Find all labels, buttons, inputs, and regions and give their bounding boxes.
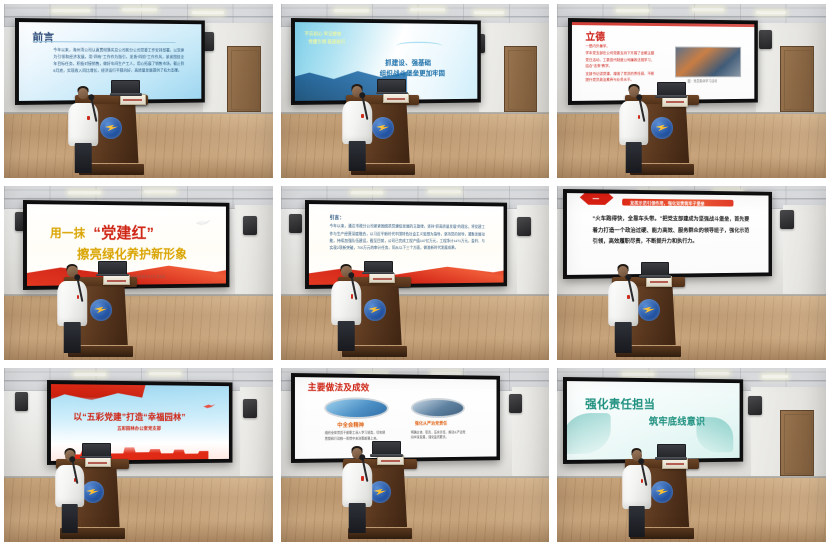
- podium-emblem-icon: [101, 117, 123, 139]
- presenter-3: [619, 86, 649, 171]
- slide-inset-photo: [675, 46, 741, 77]
- slide-9: 强化责任担当 筑牢底线意识: [567, 381, 740, 460]
- wall-speaker-icon: [243, 216, 256, 235]
- slide-title: 主要做法及成效: [308, 381, 370, 394]
- section-body-2: 明确主体、职责，压实责任，推动从严治党向纵深发展，强化监督履责。: [411, 430, 466, 441]
- photo-cell-2[interactable]: 不忘初心 牢记使命 党建引领 砥砺前行 抓建设、强基础 组织战斗堡垒更加牢固: [277, 0, 554, 182]
- podium-emblem-icon: [90, 299, 112, 321]
- presenter-5: [332, 266, 362, 350]
- slide-subtitle: 组织战斗堡垒更加牢固: [380, 69, 445, 79]
- photo-cell-5[interactable]: 引言： 今年以来，通达市政分公司紧紧围绕抓党建促发展的主旋律，坚持“抓高质量发展…: [277, 182, 554, 364]
- dove-icon: [196, 219, 211, 227]
- door: [780, 46, 814, 112]
- wall-speaker-icon: [509, 394, 522, 413]
- slide-inset-caption: 图：党员集体学习活动: [688, 78, 718, 83]
- slide-title: 抓建设、强基础: [386, 58, 432, 68]
- slide-title: 以“五彩党建”打造“幸福园林”: [73, 411, 185, 424]
- bird-icon: [203, 404, 215, 409]
- ceiling-light: [192, 11, 224, 14]
- slide-corner-text: 不忘初心 牢记使命: [305, 31, 342, 37]
- photo-1: 前言 今年以来，海州湾公司认真贯彻落实总公司和分公司党委工作安排部署，以党建为引…: [4, 4, 273, 178]
- wall-speaker-icon: [243, 399, 256, 418]
- slide-corner-text-2: 党建引领 砥砺前行: [309, 39, 346, 45]
- photo-cell-3[interactable]: 立德 一是内外兼学。 学本党支部在公司党委支持下开展了定期主题党日活动，工委迭代…: [553, 0, 830, 182]
- presenter-9: [622, 450, 652, 535]
- podium-emblem-icon: [372, 117, 394, 139]
- podium-emblem-icon: [651, 481, 673, 503]
- podium-emblem-icon: [364, 299, 386, 321]
- photo-6: 一 发挥示范引领作用，强化双责筑牢子堡垒 “火车跑得快，全靠车头带。”把党支部建…: [557, 186, 826, 360]
- door: [227, 46, 261, 112]
- slide-title-line2: 擦亮绿化养护新形象: [77, 244, 187, 263]
- photo-cell-8[interactable]: 主要做法及成效 中全会精神 组织全体党员干部职工深入学习领会，切实把思想和行动统…: [277, 364, 554, 546]
- section-heading-2: 强化从严治党责任: [415, 421, 447, 427]
- slide-body: 今年以来，通达市政分公司紧紧围绕抓党建促发展的主旋律，坚持“抓高质量发展”的理念…: [329, 223, 484, 257]
- laptop-icon: [372, 441, 401, 455]
- slide-body: “火车跑得快，全靠车头带。”把党支部建成为坚强战斗堡垒，首先要着力打造一个政治过…: [592, 215, 749, 253]
- laptop-icon: [657, 444, 686, 458]
- laptop-icon: [377, 79, 406, 93]
- laptop-icon: [641, 262, 670, 276]
- laptop-icon: [82, 443, 111, 457]
- presenter-4: [58, 266, 88, 351]
- slide-title-line1: 用一抹: [50, 224, 85, 241]
- laptop-icon: [364, 261, 393, 273]
- ceiling-light: [122, 8, 157, 11]
- photo-5: 引言： 今年以来，通达市政分公司紧紧围绕抓党建促发展的主旋律，坚持“抓高质量发展…: [281, 186, 550, 360]
- presenter-8: [342, 448, 372, 532]
- presenter-2: [342, 86, 372, 170]
- wall-speaker-icon: [759, 30, 772, 49]
- slide-subtitle: 筑牢底线意识: [649, 412, 705, 427]
- slide-bullet-1: 一是内外兼学。: [585, 43, 656, 50]
- slide-bullet-3: 支部书记讲党课，增强了党员的责任感，不断提升党员政治素养与业务水平。: [585, 71, 656, 84]
- slide-title: 立德: [585, 28, 605, 43]
- podium-emblem-icon: [82, 481, 104, 503]
- door: [780, 410, 814, 476]
- wall-speaker-icon: [748, 396, 761, 415]
- podium-emblem-icon: [651, 117, 673, 139]
- nameplate: [369, 273, 395, 284]
- slide-banner-text: 发挥示范引领作用，强化双责筑牢子堡垒: [630, 201, 705, 208]
- wall-speaker-icon: [517, 217, 530, 236]
- section-image-1: [325, 397, 389, 419]
- photo-3: 立德 一是内外兼学。 学本党支部在公司党委支持下开展了定期主题党日活动，工委迭代…: [557, 4, 826, 178]
- photo-7: 以“五彩党建”打造“幸福园林” 五彩园林办公室党支部: [4, 368, 273, 542]
- photo-8: 主要做法及成效 中全会精神 组织全体党员干部职工深入学习领会，切实把思想和行动统…: [281, 368, 550, 542]
- photo-cell-4[interactable]: 用一抹 “党建红” 擦亮绿化养护新形象 连云港市政绿化管理养护中心党支部: [0, 182, 277, 364]
- slide-bullet-2: 学本党支部在公司党委支持下开展了定期主题党日活动，工委迭代制度公司廉政法规学习，…: [585, 50, 656, 69]
- bamboo-decoration-icon: [567, 412, 610, 453]
- arc-decoration: [396, 42, 443, 51]
- section-heading-1: 中全会精神: [338, 421, 365, 429]
- photo-cell-1[interactable]: 前言 今年以来，海州湾公司认真贯彻落实总公司和分公司党委工作安排部署，以党建为引…: [0, 0, 277, 182]
- presenter-1: [68, 88, 98, 172]
- nameplate: [103, 275, 129, 286]
- podium-emblem-icon: [369, 481, 391, 503]
- led-screen-9: 强化责任担当 筑牢底线意识: [563, 377, 744, 464]
- slide-1: 前言 今年以来，海州湾公司认真贯彻落实总公司和分公司党委工作安排部署，以党建为引…: [19, 22, 202, 101]
- nameplate: [85, 457, 111, 468]
- section-image-2: [411, 398, 466, 419]
- slide-subtitle: 五彩园林办公室党支部: [117, 427, 161, 433]
- ceiling-light: [52, 9, 90, 12]
- slide-title: 前言: [32, 29, 54, 45]
- door: [504, 46, 538, 112]
- slide-title-highlight: “党建红”: [93, 219, 154, 243]
- presenter-6: [608, 266, 638, 351]
- photo-4: 用一抹 “党建红” 擦亮绿化养护新形象 连云港市政绿化管理养护中心党支部: [4, 186, 273, 360]
- photo-cell-7[interactable]: 以“五彩党建”打造“幸福园林” 五彩园林办公室党支部: [0, 364, 277, 546]
- slide-badge-number: 一: [592, 195, 599, 205]
- wall-speaker-icon: [289, 214, 302, 233]
- wall-speaker-icon: [780, 210, 793, 229]
- photo-cell-6[interactable]: 一 发挥示范引领作用，强化双责筑牢子堡垒 “火车跑得快，全靠车头带。”把党支部建…: [553, 182, 830, 364]
- laptop-icon: [657, 82, 686, 96]
- slide-title: 强化责任担当: [585, 395, 655, 412]
- nameplate: [383, 93, 409, 104]
- podium-emblem-icon: [638, 299, 660, 321]
- slide-label: 引言：: [329, 215, 344, 222]
- photo-9: 强化责任担当 筑牢底线意识: [557, 368, 826, 542]
- wall-speaker-icon: [15, 392, 28, 411]
- photo-2: 不忘初心 牢记使命 党建引领 砥砺前行 抓建设、强基础 组织战斗堡垒更加牢固: [281, 4, 550, 178]
- photo-grid: 前言 今年以来，海州湾公司认真贯彻落实总公司和分公司党委工作安排部署，以党建为引…: [0, 0, 830, 546]
- laptop-icon: [98, 261, 127, 275]
- photo-cell-9[interactable]: 强化责任担当 筑牢底线意识: [553, 364, 830, 546]
- laptop-icon: [111, 80, 140, 94]
- led-screen-1: 前言 今年以来，海州湾公司认真贯彻落实总公司和分公司党委工作安排部署，以党建为引…: [15, 18, 205, 105]
- slide-body: 今年以来，海州湾公司认真贯彻落实总公司和分公司党委工作安排部署，以党建为引领和经…: [53, 46, 184, 83]
